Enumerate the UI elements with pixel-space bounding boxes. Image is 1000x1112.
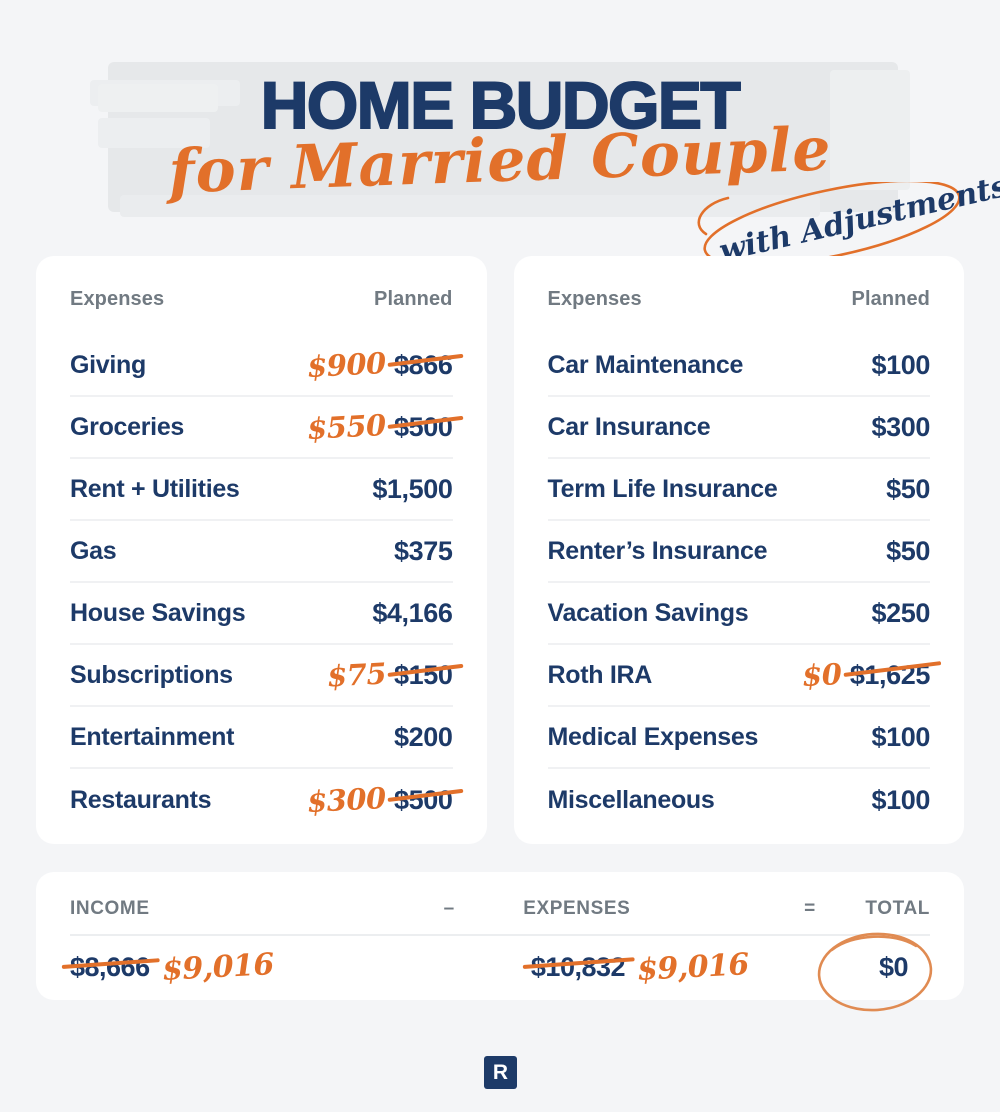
row-values: $50	[886, 536, 930, 567]
column-headers: Expenses Planned	[548, 288, 931, 311]
summary-expenses-values: $10,832 $9,016	[531, 950, 766, 985]
table-row[interactable]: Gas $375	[70, 521, 453, 583]
planned-amount: $50	[886, 536, 930, 567]
table-row[interactable]: House Savings $4,166	[70, 583, 453, 645]
table-row[interactable]: Subscriptions $75 $150	[70, 645, 453, 707]
summary-header-total: TOTAL	[865, 898, 930, 920]
table-row[interactable]: Giving $900 $866	[70, 335, 453, 397]
row-values: $300 $500	[307, 783, 452, 817]
expense-cards: Expenses Planned Giving $900 $866 Grocer…	[36, 256, 964, 844]
summary-values: $8,666 $9,016 $10,832 $9,016 $0	[70, 934, 930, 990]
row-label: Term Life Insurance	[548, 475, 778, 504]
expense-card-right: Expenses Planned Car Maintenance $100 Ca…	[514, 256, 965, 844]
row-label: Vacation Savings	[548, 599, 749, 628]
planned-amount: $200	[394, 722, 452, 753]
table-row[interactable]: Medical Expenses $100	[548, 707, 931, 769]
summary-operator-equals: =	[754, 898, 865, 920]
adjusted-amount: $75	[326, 656, 387, 693]
summary-header-expenses: EXPENSES	[523, 898, 754, 920]
ramsey-logo: R	[484, 1056, 517, 1089]
summary-operator-minus: –	[375, 898, 523, 920]
row-values: $100	[872, 350, 930, 381]
adjustments-annotation: with Adjustments!	[680, 182, 980, 264]
table-row[interactable]: Rent + Utilities $1,500	[70, 459, 453, 521]
summary-income-values: $8,666 $9,016	[70, 950, 380, 985]
row-label: Groceries	[70, 413, 184, 442]
expenses-adjusted: $9,016	[636, 947, 750, 988]
header: HOME BUDGET for Married Couple with Adju…	[0, 0, 1000, 250]
row-values: $300	[872, 412, 930, 443]
planned-amount: $250	[872, 598, 930, 629]
planned-amount: $100	[872, 722, 930, 753]
row-label: Car Insurance	[548, 413, 711, 442]
summary-card: INCOME – EXPENSES = TOTAL $8,666 $9,016 …	[36, 872, 964, 1000]
row-values: $550 $500	[307, 410, 452, 444]
original-amount: $500	[394, 412, 452, 443]
table-row[interactable]: Restaurants $300 $500	[70, 769, 453, 831]
row-values: $50	[886, 474, 930, 505]
row-label: Roth IRA	[548, 661, 653, 690]
planned-amount: $1,500	[372, 474, 452, 505]
row-values: $250	[872, 598, 930, 629]
row-label: Miscellaneous	[548, 786, 715, 815]
summary-headers: INCOME – EXPENSES = TOTAL	[70, 898, 930, 934]
adjusted-amount: $900	[306, 346, 386, 384]
table-row[interactable]: Car Maintenance $100	[548, 335, 931, 397]
summary-header-income: INCOME	[70, 898, 375, 920]
row-label: Entertainment	[70, 723, 234, 752]
planned-amount: $300	[872, 412, 930, 443]
expenses-original: $10,832	[531, 952, 625, 983]
original-amount: $1,625	[850, 660, 930, 691]
row-values: $4,166	[372, 598, 452, 629]
planned-amount: $4,166	[372, 598, 452, 629]
row-label: Renter’s Insurance	[548, 537, 768, 566]
adjusted-amount: $550	[306, 408, 386, 446]
total-amount: $0	[879, 952, 930, 982]
table-row[interactable]: Vacation Savings $250	[548, 583, 931, 645]
adjusted-amount: $300	[306, 781, 386, 819]
table-row[interactable]: Groceries $550 $500	[70, 397, 453, 459]
original-amount: $500	[394, 785, 452, 816]
row-label: Car Maintenance	[548, 351, 744, 380]
table-row[interactable]: Term Life Insurance $50	[548, 459, 931, 521]
row-values: $375	[394, 536, 452, 567]
row-label: Medical Expenses	[548, 723, 759, 752]
planned-amount: $375	[394, 536, 452, 567]
planned-amount: $50	[886, 474, 930, 505]
column-header-planned: Planned	[852, 288, 931, 311]
row-values: $100	[872, 722, 930, 753]
infographic-page: HOME BUDGET for Married Couple with Adju…	[0, 0, 1000, 1112]
row-values: $100	[872, 785, 930, 816]
planned-amount: $100	[872, 785, 930, 816]
column-header-expenses: Expenses	[70, 288, 164, 311]
row-values: $900 $866	[307, 348, 452, 382]
planned-amount: $100	[872, 350, 930, 381]
row-values: $200	[394, 722, 452, 753]
original-amount: $150	[394, 660, 452, 691]
row-label: Gas	[70, 537, 116, 566]
table-row[interactable]: Renter’s Insurance $50	[548, 521, 931, 583]
income-adjusted: $9,016	[161, 947, 275, 988]
table-row[interactable]: Car Insurance $300	[548, 397, 931, 459]
column-header-planned: Planned	[374, 288, 453, 311]
row-values: $1,500	[372, 474, 452, 505]
adjusted-amount: $0	[802, 657, 843, 693]
row-label: Rent + Utilities	[70, 475, 240, 504]
summary-total-value: $0	[879, 952, 930, 983]
row-label: Restaurants	[70, 786, 211, 815]
row-values: $75 $150	[327, 658, 453, 692]
row-values: $0 $1,625	[802, 658, 930, 692]
table-row[interactable]: Miscellaneous $100	[548, 769, 931, 831]
table-row[interactable]: Roth IRA $0 $1,625	[548, 645, 931, 707]
table-row[interactable]: Entertainment $200	[70, 707, 453, 769]
expense-card-left: Expenses Planned Giving $900 $866 Grocer…	[36, 256, 487, 844]
row-label: Giving	[70, 351, 146, 380]
column-headers: Expenses Planned	[70, 288, 453, 311]
original-amount: $866	[394, 350, 452, 381]
row-label: Subscriptions	[70, 661, 233, 690]
row-label: House Savings	[70, 599, 245, 628]
income-original: $8,666	[70, 952, 150, 983]
column-header-expenses: Expenses	[548, 288, 642, 311]
